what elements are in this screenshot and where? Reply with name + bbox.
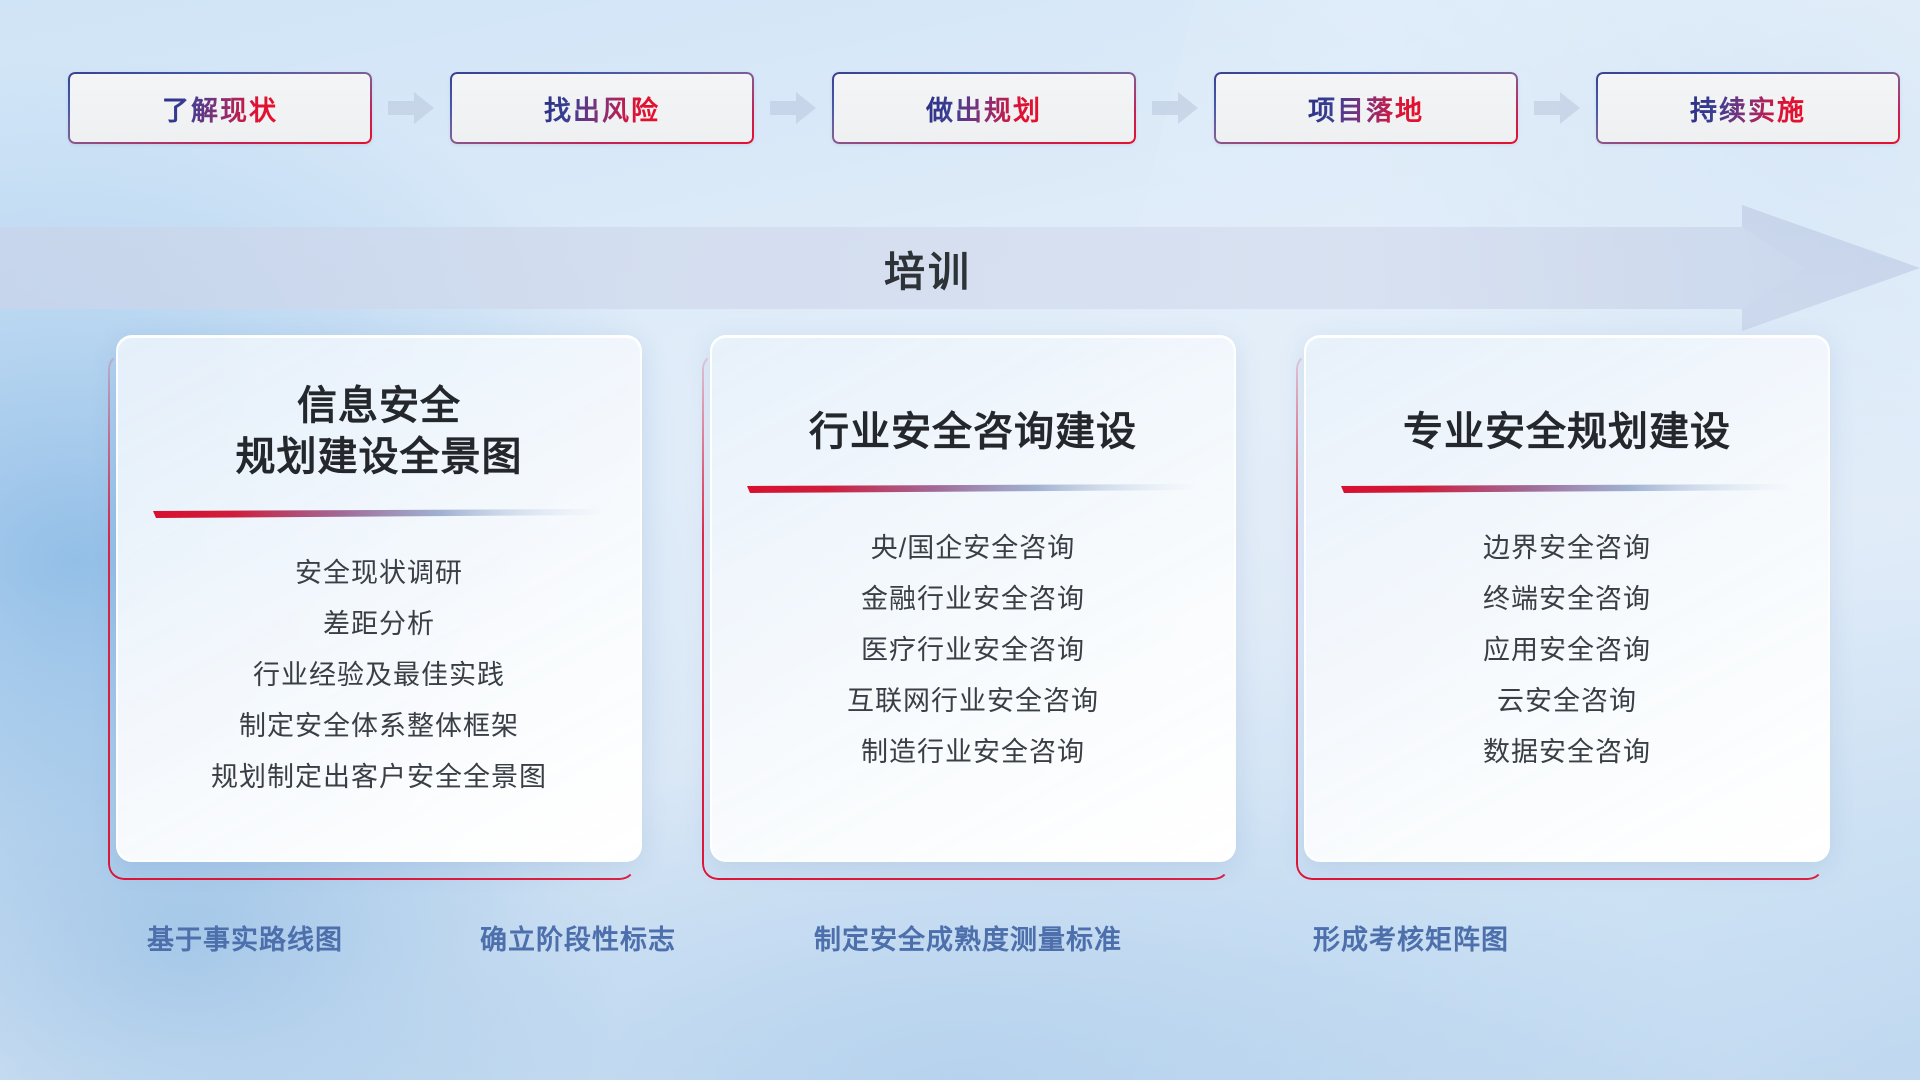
list-item: 制定安全体系整体框架	[239, 701, 519, 752]
card-3-list: 边界安全咨询 终端安全咨询 应用安全咨询 云安全咨询 数据安全咨询	[1332, 523, 1802, 778]
step-label-2: 找出风险	[544, 89, 660, 128]
step-box-3[interactable]: 做出规划	[832, 72, 1136, 144]
list-item: 差距分析	[323, 599, 435, 650]
step-box-4[interactable]: 项目落地	[1214, 72, 1518, 144]
card-3: 专业安全规划建设	[1296, 335, 1830, 880]
card-1: 信息安全 规划建设全景图	[108, 335, 642, 880]
card-3-title: 专业安全规划建设	[1403, 407, 1731, 458]
card-2-panel[interactable]: 行业安全咨询建设	[710, 335, 1236, 862]
step-label-1: 了解现状	[162, 89, 278, 128]
list-item: 规划制定出客户安全全景图	[211, 752, 547, 803]
caption-1: 基于事实路线图	[147, 918, 343, 957]
card-1-list: 安全现状调研 差距分析 行业经验及最佳实践 制定安全体系整体框架 规划制定出客户…	[144, 548, 614, 803]
card-2-divider	[747, 484, 1199, 493]
list-item: 制造行业安全咨询	[861, 727, 1085, 778]
cards-row: 信息安全 规划建设全景图	[108, 335, 1830, 880]
caption-4: 形成考核矩阵图	[1313, 918, 1509, 957]
card-2: 行业安全咨询建设	[702, 335, 1236, 880]
arrow-right-icon	[1534, 91, 1580, 125]
list-item: 边界安全咨询	[1483, 523, 1651, 574]
arrow-right-icon	[770, 91, 816, 125]
caption-2: 确立阶段性标志	[480, 918, 676, 957]
step-box-5[interactable]: 持续实施	[1596, 72, 1900, 144]
list-item: 数据安全咨询	[1483, 727, 1651, 778]
list-item: 应用安全咨询	[1483, 625, 1651, 676]
caption-3: 制定安全成熟度测量标准	[814, 918, 1122, 957]
slide-root: 了解现状 找出风险 做出规划 项目落地 持续实施	[0, 0, 1920, 1080]
card-1-title: 信息安全 规划建设全景图	[236, 381, 523, 483]
list-item: 医疗行业安全咨询	[861, 625, 1085, 676]
card-3-divider	[1341, 484, 1793, 493]
list-item: 行业经验及最佳实践	[253, 650, 505, 701]
step-label-4: 项目落地	[1308, 89, 1424, 128]
card-1-panel[interactable]: 信息安全 规划建设全景图	[116, 335, 642, 862]
card-3-panel[interactable]: 专业安全规划建设	[1304, 335, 1830, 862]
step-box-1[interactable]: 了解现状	[68, 72, 372, 144]
training-band-label: 培训	[0, 205, 1856, 331]
list-item: 云安全咨询	[1497, 676, 1637, 727]
card-2-list: 央/国企安全咨询 金融行业安全咨询 医疗行业安全咨询 互联网行业安全咨询 制造行…	[738, 523, 1208, 778]
card-2-title: 行业安全咨询建设	[809, 407, 1137, 458]
arrow-right-icon	[1152, 91, 1198, 125]
bottom-captions-row: 基于事实路线图 确立阶段性标志 制定安全成熟度测量标准 形成考核矩阵图	[0, 918, 1920, 964]
list-item: 央/国企安全咨询	[871, 523, 1076, 574]
step-label-3: 做出规划	[926, 89, 1042, 128]
list-item: 安全现状调研	[295, 548, 463, 599]
list-item: 金融行业安全咨询	[861, 574, 1085, 625]
step-box-2[interactable]: 找出风险	[450, 72, 754, 144]
card-1-divider	[153, 509, 605, 518]
arrow-right-icon	[388, 91, 434, 125]
list-item: 终端安全咨询	[1483, 574, 1651, 625]
process-steps-row: 了解现状 找出风险 做出规划 项目落地 持续实施	[68, 72, 1852, 144]
list-item: 互联网行业安全咨询	[847, 676, 1099, 727]
step-label-5: 持续实施	[1690, 89, 1806, 128]
